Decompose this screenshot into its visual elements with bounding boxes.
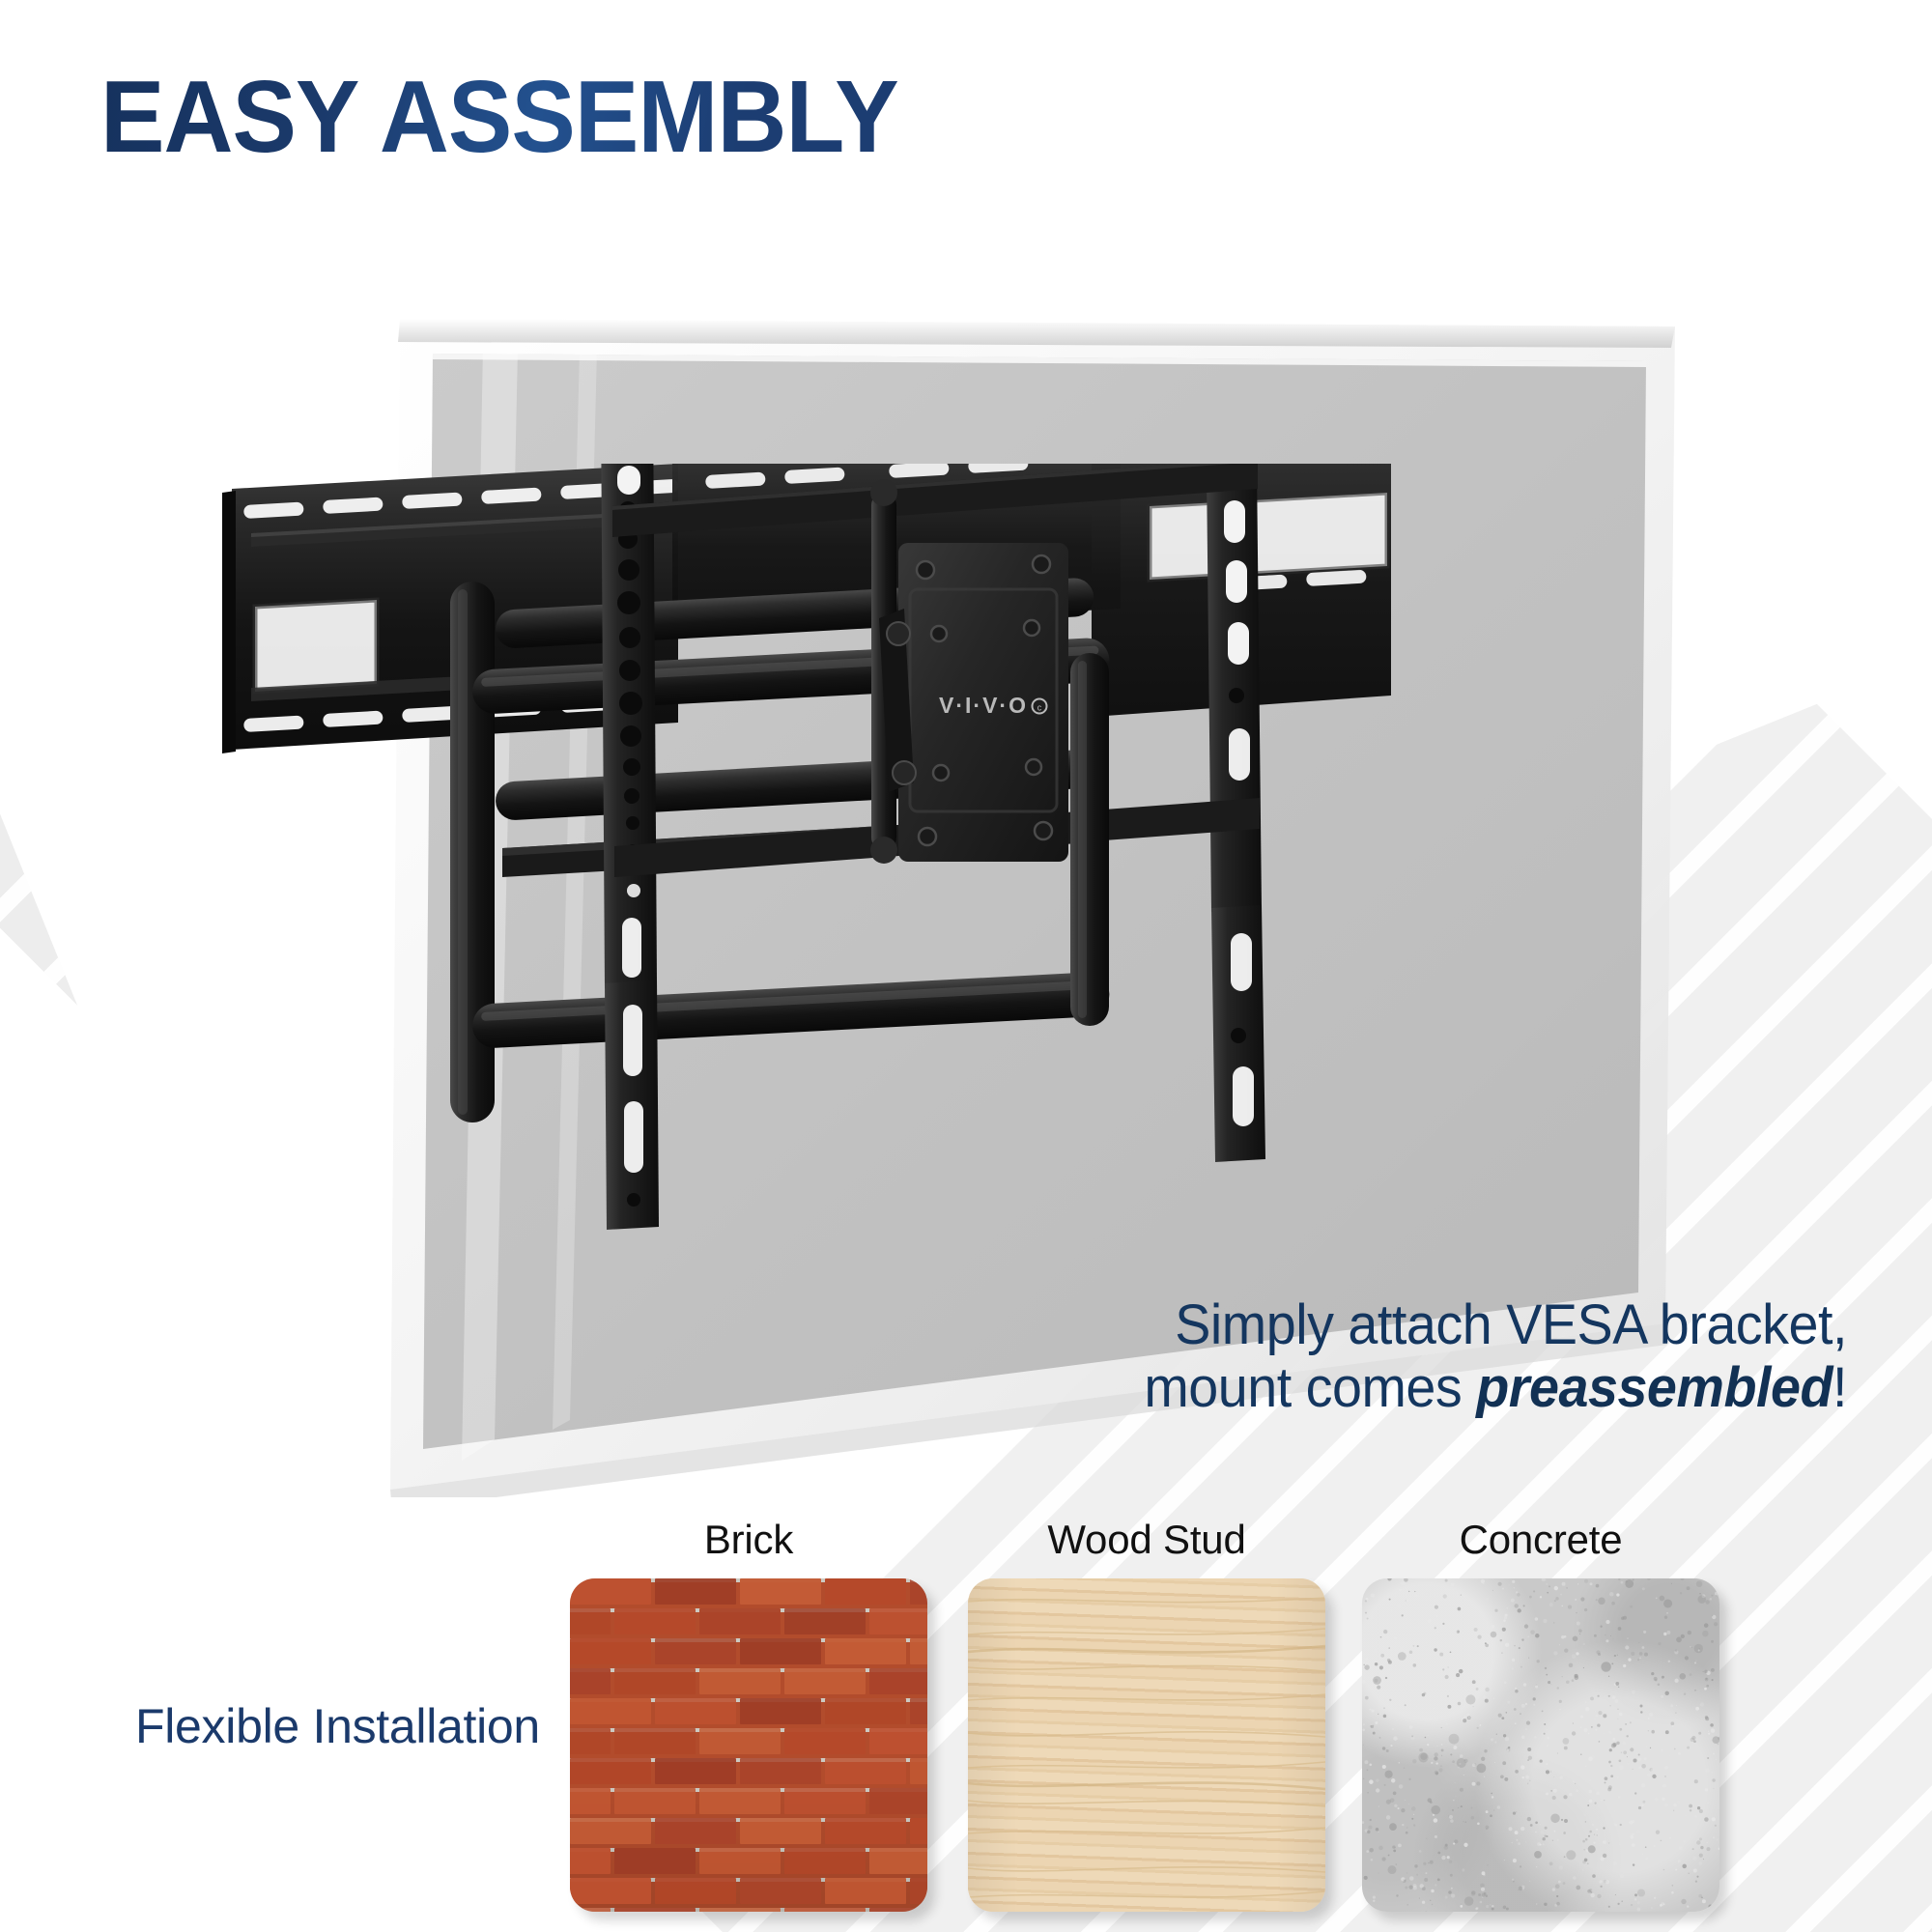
wall-type-swatches: Brick Wood Stud — [570, 1517, 1855, 1932]
caption-line-1: Simply attach VESA bracket, — [920, 1294, 1847, 1357]
swatch-tile-concrete — [1362, 1578, 1719, 1912]
flexible-installation-label: Flexible Installation — [135, 1698, 540, 1754]
tv-wall-mount: V·I·V·O c — [222, 464, 1439, 1265]
wood-grain-lines — [968, 1578, 1325, 1912]
swatch-wood-stud: Wood Stud — [968, 1517, 1325, 1912]
articulating-arm-lower-front — [471, 971, 1111, 1048]
arm-joint-right — [1070, 653, 1109, 1026]
caption-text: Simply attach VESA bracket, mount comes … — [920, 1294, 1847, 1420]
swatch-label-brick: Brick — [570, 1517, 927, 1567]
swatch-label-concrete: Concrete — [1362, 1517, 1719, 1567]
swatch-label-wood-stud: Wood Stud — [968, 1517, 1325, 1567]
copyright-mark: c — [1037, 703, 1042, 713]
caption-line-2: mount comes preassembled! — [920, 1357, 1847, 1420]
caption-line2-prefix: mount comes — [1144, 1356, 1476, 1419]
vivo-brand-logo: V·I·V·O — [939, 693, 1028, 718]
tv-wall-mount-svg: V·I·V·O c — [222, 464, 1439, 1265]
swatch-brick: Brick — [570, 1517, 927, 1912]
page-title: EASY ASSEMBLY — [100, 66, 898, 168]
swatch-tile-wood-stud — [968, 1578, 1325, 1912]
brick-rows — [570, 1578, 927, 1912]
swatch-tile-brick — [570, 1578, 927, 1912]
caption-line2-suffix: ! — [1833, 1356, 1847, 1419]
concrete-speckles — [1362, 1578, 1719, 1912]
swatch-concrete: Concrete — [1362, 1517, 1719, 1912]
caption-emphasis: preassembled — [1476, 1356, 1833, 1419]
